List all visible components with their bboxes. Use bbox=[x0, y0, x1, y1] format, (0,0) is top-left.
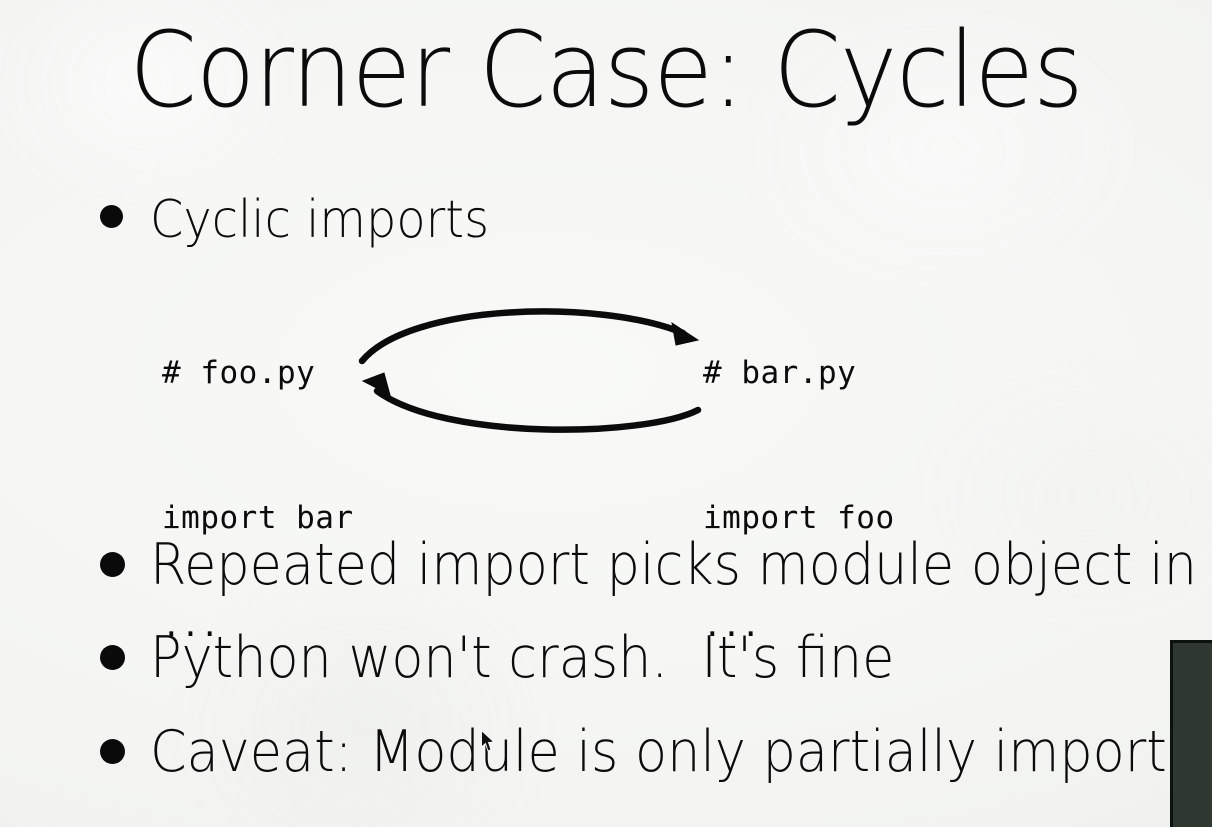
code-line-foo-import: import bar bbox=[162, 500, 354, 536]
bullet-item-python-wont-crash: Python won't crash. It's fine bbox=[150, 625, 894, 691]
bullet-dot-icon bbox=[100, 205, 123, 228]
bullet-item-caveat-partial-import: Caveat: Module is only partially importe… bbox=[150, 719, 1212, 785]
code-line-foo-comment: # foo.py bbox=[162, 355, 354, 391]
arrow-bar-to-foo-curve bbox=[377, 391, 698, 430]
bullet-dot-icon bbox=[100, 552, 125, 577]
import-cycle-diagram bbox=[350, 295, 710, 440]
bullet-item-repeated-import: Repeated import picks module object in c… bbox=[150, 532, 1212, 598]
bullet-item-cyclic-imports: Cyclic imports bbox=[150, 190, 489, 250]
slide: Corner Case: Cycles Cyclic imports # foo… bbox=[0, 0, 1212, 827]
bullet-dot-icon bbox=[100, 645, 125, 670]
corner-dark-panel bbox=[1170, 640, 1212, 827]
page-title: Corner Case: Cycles bbox=[42, 14, 1169, 126]
arrow-foo-to-bar-head bbox=[672, 323, 698, 345]
mouse-pointer-icon bbox=[481, 730, 496, 753]
bullet-dot-icon bbox=[100, 739, 125, 764]
code-line-bar-import: import foo bbox=[703, 500, 895, 536]
code-line-bar-comment: # bar.py bbox=[703, 355, 895, 391]
arrow-foo-to-bar-curve bbox=[362, 311, 683, 361]
